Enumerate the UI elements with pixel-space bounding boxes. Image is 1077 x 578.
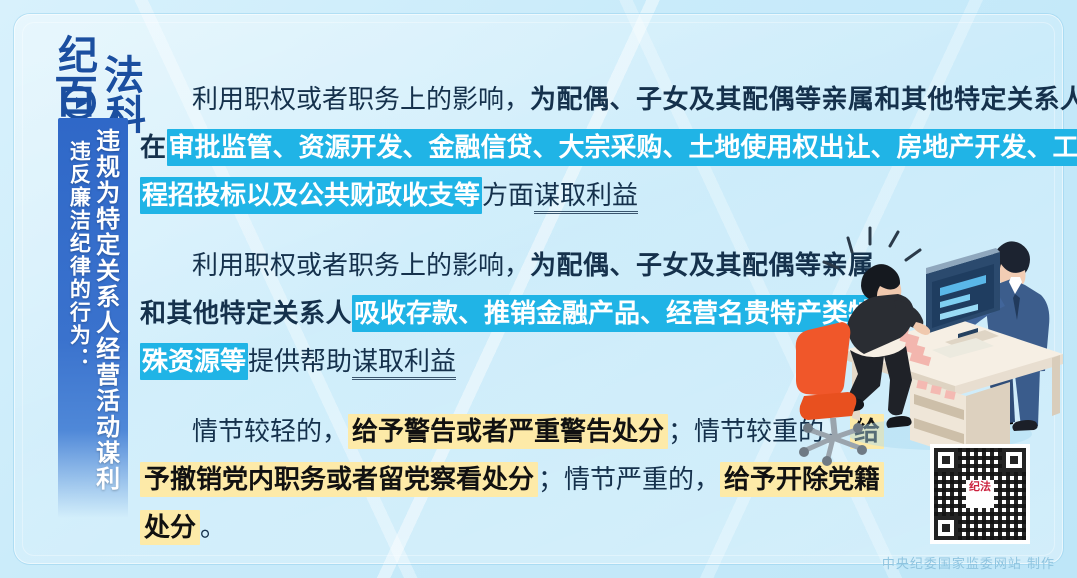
para-1-run-3-3: 谋取利益 [534,181,638,214]
qr-pattern: 纪法 [934,448,1026,540]
logo-char-1: 纪 [58,36,98,76]
para-1-line-2: 在审批监管、资源开发、金融信贷、大宗采购、土地使用权出让、房地产开发、工 [140,124,1000,172]
office-bribery-illustration [790,182,1070,472]
para-3-line-3: 处分。 [140,504,1000,552]
para-1-run-2-2: 审批监管、资源开发、金融信贷、大宗采购、土地使用权出让、房地产开发、工 [167,129,1077,166]
para-3-run-1-2: 给予警告或者严重警告处分 [348,414,668,449]
para-3-run-3-1: 处分 [140,510,200,545]
spark-lines [824,228,920,268]
para-2-run-3-1: 殊资源等 [140,343,248,380]
banner-sub-text: 违反廉洁纪律的行为： [68,128,90,492]
para-2-run-1-1: 利用职权或者职务上的影响， [192,251,530,280]
para-3-run-2-1: 予撤销党内职务或者留党察看处分 [140,462,538,497]
qr-center-logo: 纪法 [966,480,994,508]
para-2-run-3-2: 提供帮助 [248,347,352,376]
para-1-run-1-2: 为配偶、子女及其配偶等亲属和其他特定关系人 [530,85,1077,114]
qr-finder-top-left [934,448,958,472]
banner-main-text: 违规为特定关系人经营活动谋利 [92,128,117,492]
vertical-title-banner: 违规为特定关系人经营活动谋利 违反廉洁纪律的行为： [58,118,128,518]
credit-text: 中央纪委国家监委网站 制作 [882,553,1055,572]
banner-columns: 违规为特定关系人经营活动谋利 违反廉洁纪律的行为： [58,128,128,492]
para-3-run-1-1: 情节较轻的， [192,417,348,446]
logo-char-2: 法 [104,56,144,96]
para-2-run-3-3: 谋取利益 [352,347,456,380]
infographic-poster: 纪 法 百 科 违规为特定关系人经营活动谋利 违反廉洁纪律的行为： 利用职权或者… [0,0,1077,578]
para-3-run-2-2: ；情节严重的， [538,465,720,494]
para-2-run-2-1: 和其他特定关系人 [140,299,352,328]
para-3-run-3-2: 。 [200,513,226,542]
para-1-run-3-2: 方面 [482,181,534,210]
qr-finder-bottom-left [934,516,958,540]
para-1-run-2-1: 在 [140,133,167,162]
qr-finder-top-right [1002,448,1026,472]
para-1-line-1: 利用职权或者职务上的影响，为配偶、子女及其配偶等亲属和其他特定关系人 [140,76,1000,124]
play-icon [62,86,96,120]
para-1-run-1-1: 利用职权或者职务上的影响， [192,85,530,114]
para-1-run-3-1: 程招投标以及公共财政收支等 [140,177,482,214]
qr-code[interactable]: 纪法 [930,444,1030,544]
